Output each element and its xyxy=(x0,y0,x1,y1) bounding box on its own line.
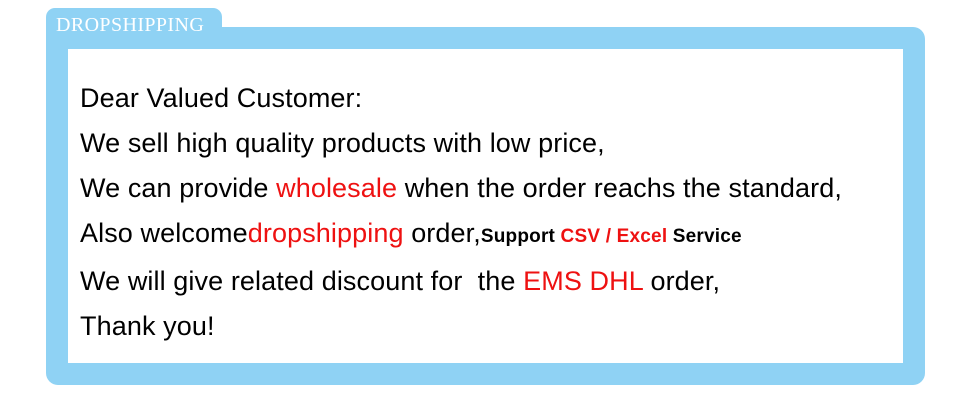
message-line-greeting: Dear Valued Customer: xyxy=(80,76,900,121)
message-segment: Thank you! xyxy=(80,311,215,341)
dropshipping-tab-label: DROPSHIPPING xyxy=(56,11,204,39)
message-segment: Dear Valued Customer: xyxy=(80,83,362,113)
message-line-shipping-discount: We will give related discount for the EM… xyxy=(80,259,900,304)
message-body: Dear Valued Customer:We sell high qualit… xyxy=(80,76,900,349)
message-segment: Service xyxy=(667,226,742,247)
message-segment: EMS DHL xyxy=(523,266,643,296)
message-segment: We will give related discount for the xyxy=(80,266,523,296)
message-segment: order, xyxy=(643,266,720,296)
message-line-wholesale: We can provide wholesale when the order … xyxy=(80,166,900,211)
banner-canvas: DROPSHIPPING Dear Valued Customer:We sel… xyxy=(0,0,960,400)
message-segment: dropshipping xyxy=(248,218,404,248)
message-segment: We sell high quality products with low p… xyxy=(80,128,605,158)
dropshipping-tab: DROPSHIPPING xyxy=(46,8,222,42)
message-segment: when the order reachs the standard, xyxy=(397,173,842,203)
message-segment: We can provide xyxy=(80,173,276,203)
message-segment: CSV / Excel xyxy=(561,226,668,247)
message-line-closing: Thank you! xyxy=(80,304,900,349)
message-line-dropshipping-support: Also welcomedropshipping order,Support C… xyxy=(80,211,900,259)
message-segment: wholesale xyxy=(276,173,397,203)
message-segment: order, xyxy=(404,218,481,248)
message-line-quality-price: We sell high quality products with low p… xyxy=(80,121,900,166)
message-segment: Also welcome xyxy=(80,218,248,248)
message-segment: Support xyxy=(481,226,561,247)
